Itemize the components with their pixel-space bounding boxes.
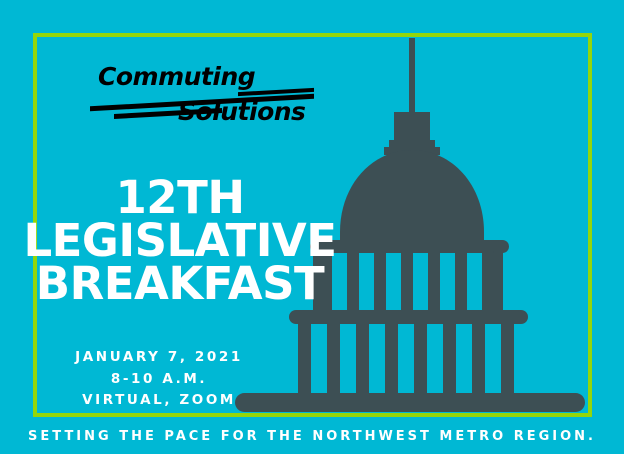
event-time: 8-10 A.M. (18, 369, 300, 391)
event-title-line-1: 12TH (20, 176, 340, 219)
event-title-line-3: BREAKFAST (20, 262, 340, 305)
event-location: VIRTUAL, ZOOM (18, 390, 300, 412)
logo-word-commuting: Commuting (98, 62, 255, 91)
event-title: 12TH LEGISLATIVE BREAKFAST (20, 176, 340, 305)
event-date: JANUARY 7, 2021 (18, 347, 300, 369)
event-details: JANUARY 7, 2021 8-10 A.M. VIRTUAL, ZOOM (18, 347, 300, 412)
organization-tagline: SETTING THE PACE FOR THE NORTHWEST METRO… (0, 429, 624, 444)
commuting-solutions-logo: Commuting Solutions (90, 64, 315, 136)
logo-word-solutions: Solutions (178, 97, 305, 126)
poster-canvas: Commuting Solutions 12TH LEGISLATIVE BRE… (0, 0, 624, 454)
event-title-line-2: LEGISLATIVE (20, 219, 340, 262)
